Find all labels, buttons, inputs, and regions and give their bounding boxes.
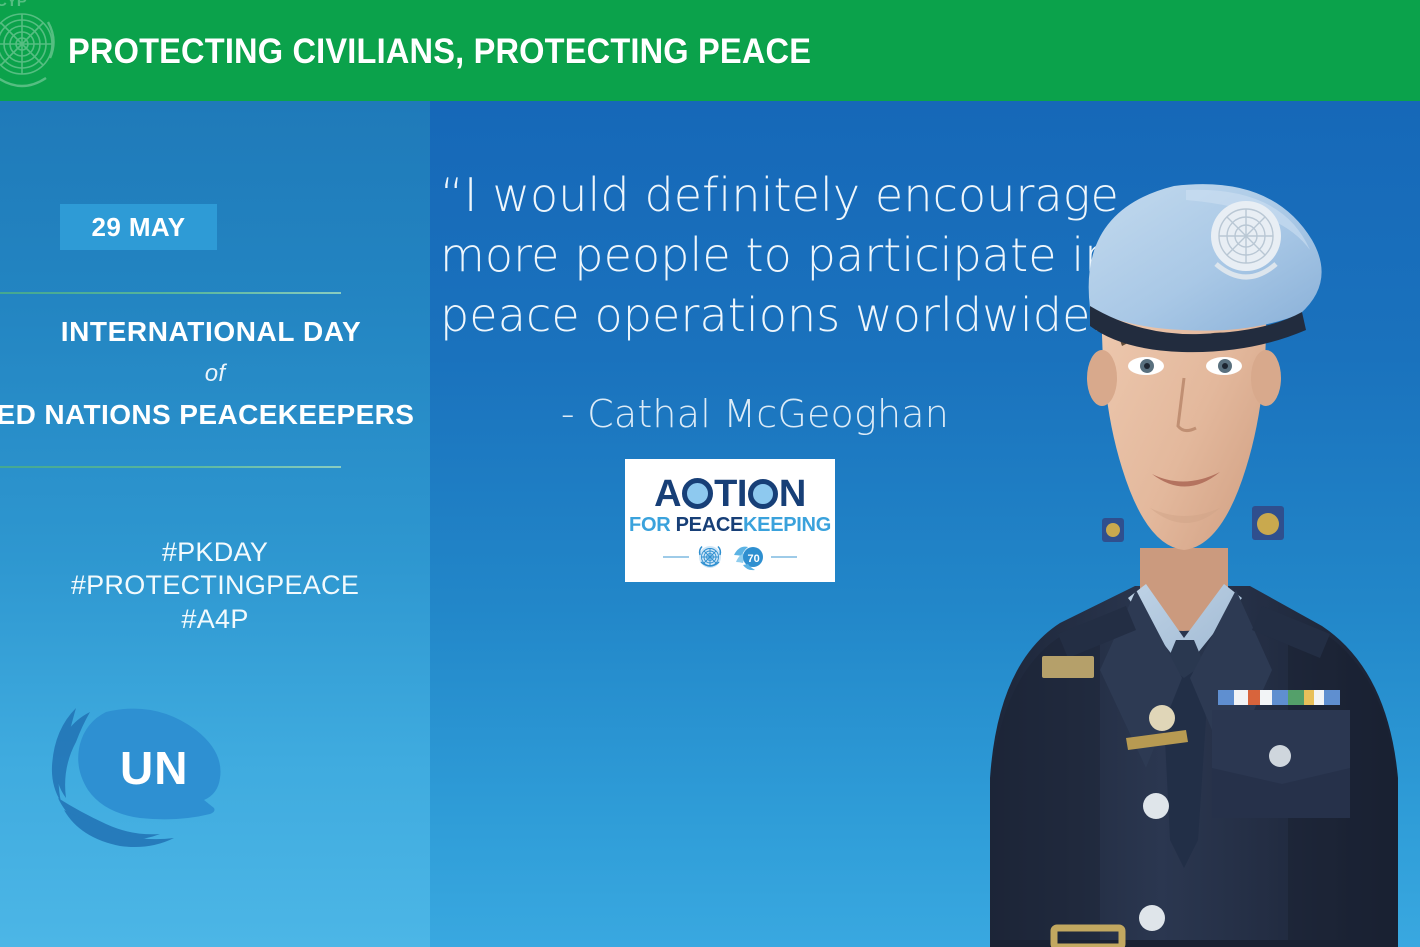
- un70-anniversary-bird-icon: 70: [731, 542, 765, 572]
- a4p-sub-peace: PEACE: [676, 514, 743, 536]
- a4p-wordmark-subtitle: FOR PEACEKEEPING: [629, 515, 831, 535]
- a4p-dash-right: [771, 556, 797, 558]
- medal-ribbon-bar: [1218, 690, 1340, 705]
- observance-title: INTERNATIONAL DAY of UNITED NATIONS PEAC…: [0, 316, 430, 431]
- a4p-sub-keeping: KEEPING: [743, 514, 831, 536]
- a4p-wordmark-action: A TI N: [654, 474, 806, 514]
- a4p-letter-c-ring: [682, 478, 713, 509]
- un-logo-text: UN: [120, 742, 188, 794]
- divider-bottom: [0, 466, 341, 468]
- observance-line-2: of: [0, 360, 430, 388]
- a4p-letter-a: A: [654, 475, 681, 513]
- a4p-dash-left: [663, 556, 689, 558]
- a4p-sub-for: FOR: [629, 514, 676, 536]
- hashtag-item: #PROTECTINGPEACE: [0, 569, 430, 602]
- header-banner: CYP PROTECTING CIVILIANS, PROTECTING PEA…: [0, 0, 1420, 101]
- hashtag-list: #PKDAY #PROTECTINGPEACE #A4P: [0, 536, 430, 636]
- header-title: PROTECTING CIVILIANS, PROTECTING PEACE: [68, 32, 811, 72]
- a4p-letters-ti: TI: [714, 475, 747, 513]
- date-badge-label: 29 MAY: [92, 212, 186, 243]
- observance-line-1: INTERNATIONAL DAY: [0, 316, 430, 348]
- observance-line-3: UNITED NATIONS PEACEKEEPERS: [0, 399, 430, 431]
- divider-top: [0, 292, 341, 294]
- hashtag-item: #A4P: [0, 603, 430, 636]
- un-emblem-icon: [695, 542, 725, 572]
- a4p-letter-n: N: [779, 475, 806, 513]
- un-peacekeeping-helmet-logo-icon: UN: [28, 682, 248, 857]
- a4p-letter-o-ring: [748, 479, 778, 509]
- hashtag-item: #PKDAY: [0, 536, 430, 569]
- poster-canvas: CYP PROTECTING CIVILIANS, PROTECTING PEA…: [0, 0, 1420, 947]
- action-for-peacekeeping-logo: A TI N FOR PEACEKEEPING: [625, 459, 835, 582]
- svg-text:70: 70: [748, 553, 760, 565]
- un-beret-badge-icon: [1211, 201, 1281, 277]
- watermark-text: CYP: [0, 0, 27, 10]
- a4p-emblem-row: 70: [625, 542, 835, 572]
- date-badge: 29 MAY: [60, 204, 217, 250]
- un-peacekeeper-portrait: [950, 78, 1420, 947]
